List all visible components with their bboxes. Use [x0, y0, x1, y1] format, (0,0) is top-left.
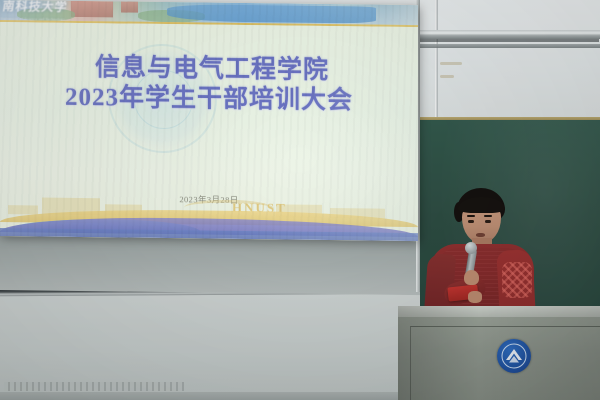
whiteboard-smudge — [440, 75, 454, 78]
speaker-sleeve-pattern — [502, 262, 532, 298]
university-logo-text: 南科技大学 University of Science and Technolo… — [1, 0, 90, 21]
lectern — [398, 306, 600, 400]
whiteboard-seam — [435, 0, 438, 126]
speaker-mouth — [476, 233, 485, 237]
speaker-eyebrow — [484, 215, 492, 217]
skyline-building — [8, 205, 37, 214]
wall-vent — [4, 382, 184, 391]
lecture-hall-scene: 南科技大学 University of Science and Technolo… — [0, 0, 600, 400]
projection-screen[interactable]: 南科技大学 University of Science and Technolo… — [0, 0, 418, 241]
university-logo-chinese: 南科技大学 — [2, 0, 69, 14]
slide-title: 信息与电气工程学院 2023年学生干部培训大会 — [0, 52, 418, 117]
speaker-eye — [485, 220, 491, 223]
whiteboard-rail — [418, 30, 600, 39]
banner-building — [121, 1, 138, 12]
speaker-hand-holding-card — [468, 291, 482, 303]
university-emblem-icon — [497, 339, 531, 373]
speaker-eye — [468, 220, 474, 223]
student-speaker — [424, 188, 540, 323]
slide-title-line2: 2023年学生干部培训大会 — [0, 82, 418, 117]
baseboard — [0, 392, 420, 400]
whiteboard-rail-lower — [418, 44, 600, 48]
screen-lower-shadow — [0, 236, 420, 295]
whiteboard-smudge — [440, 62, 462, 65]
speaker-hand-holding-microphone — [464, 270, 479, 285]
speaker-hair-fringe — [458, 197, 505, 213]
slide-body: 信息与电气工程学院 2023年学生干部培训大会 2023年3月28日 HNUST — [0, 22, 418, 241]
speaker-eyebrow — [467, 215, 475, 217]
